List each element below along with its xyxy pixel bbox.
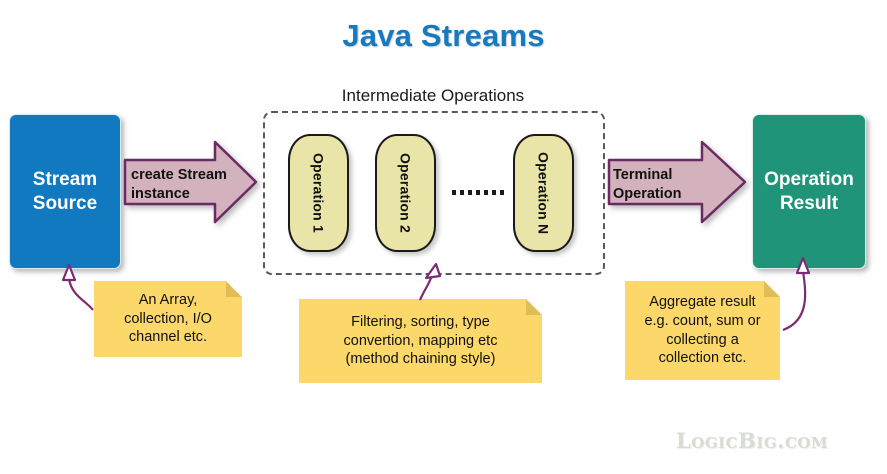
- operation-result-label: Operation Result: [753, 168, 865, 214]
- operation-result-box: Operation Result: [752, 114, 866, 269]
- intermediate-operations-label: Intermediate Operations: [263, 86, 603, 106]
- connector-intermediate: [420, 272, 433, 300]
- stream-source-box: Stream Source: [9, 114, 121, 269]
- operation-capsule-n: Operation N: [513, 134, 574, 252]
- operation-capsule-2: Operation 2: [375, 134, 436, 252]
- note-stream-source-text: An Array, collection, I/O channel etc.: [118, 291, 218, 348]
- note-intermediate-operations-text: Filtering, sorting, type convertion, map…: [338, 313, 504, 370]
- create-stream-arrow: [123, 138, 258, 226]
- operations-ellipsis: [452, 190, 504, 195]
- note-stream-source: An Array, collection, I/O channel etc.: [94, 281, 242, 357]
- note-intermediate-operations: Filtering, sorting, type convertion, map…: [299, 299, 542, 383]
- operation-label-2: Operation 2: [377, 136, 434, 250]
- logicbig-watermark: LogicBig.com: [676, 428, 828, 453]
- connector-result: [783, 271, 805, 330]
- operation-label-1: Operation 1: [290, 136, 347, 250]
- note-fold-icon: [226, 281, 242, 297]
- terminal-operation-arrow: [607, 138, 747, 226]
- note-fold-icon: [526, 299, 542, 315]
- diagram-canvas: Java Streams Stream Source create Stream…: [0, 0, 887, 474]
- note-operation-result-text: Aggregate result e.g. count, sum or coll…: [638, 293, 766, 368]
- note-operation-result: Aggregate result e.g. count, sum or coll…: [625, 281, 780, 380]
- page-title: Java Streams: [0, 18, 887, 54]
- operation-label-n: Operation N: [515, 136, 572, 250]
- connector-source: [69, 279, 93, 310]
- operation-capsule-1: Operation 1: [288, 134, 349, 252]
- stream-source-label: Stream Source: [10, 168, 120, 214]
